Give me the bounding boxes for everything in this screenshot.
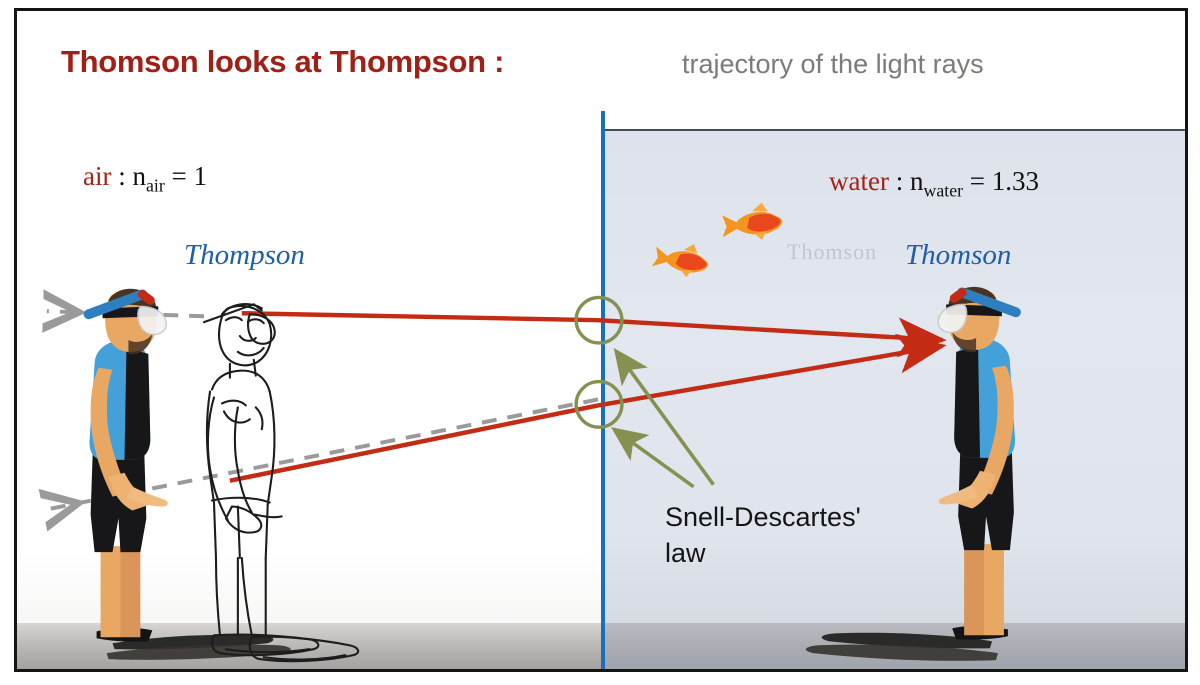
diagram-canvas: Thomson looks at Thompson : trajectory o… <box>0 0 1200 685</box>
figure-frame: Thomson looks at Thompson : trajectory o… <box>14 8 1188 672</box>
light-ray-lower-in-air <box>230 405 598 480</box>
diver-thomson <box>806 287 1016 661</box>
light-ray-upper-in-air <box>242 313 598 320</box>
diagram-vector-layer <box>17 11 1185 669</box>
fish-icon-1 <box>651 239 711 280</box>
callout-arrow-group <box>614 351 713 487</box>
callout-arrow-to-lower-point <box>614 429 694 486</box>
thompson-virtual-image <box>204 304 358 661</box>
light-ray-upper-in-water <box>598 320 942 340</box>
fish-group <box>651 201 784 280</box>
fish-icon-2 <box>719 201 783 244</box>
